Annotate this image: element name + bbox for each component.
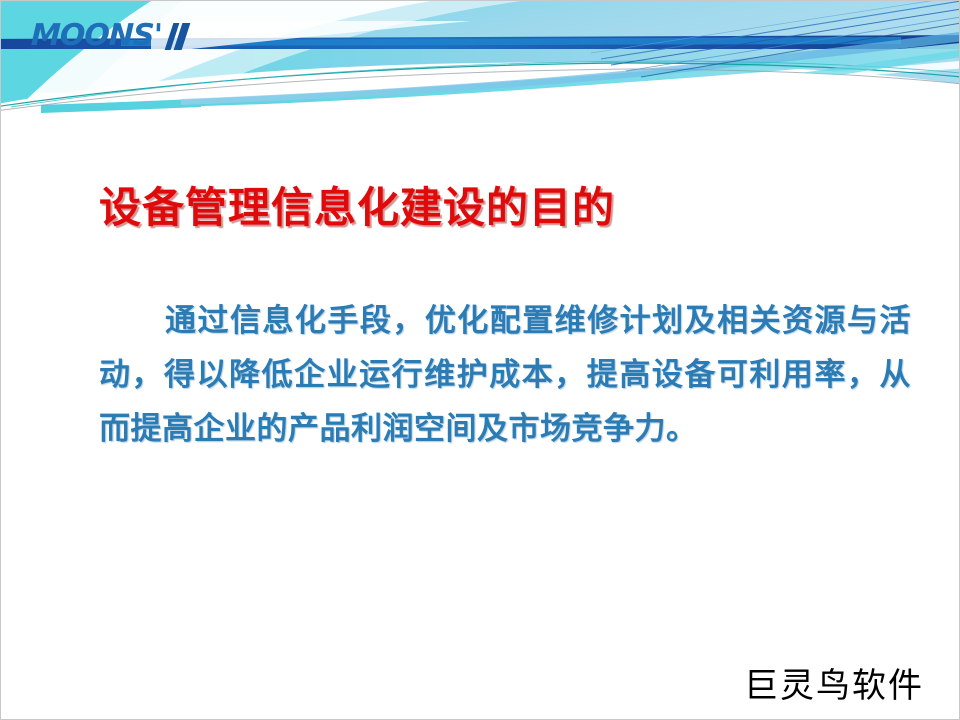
company-logo: MOONS' xyxy=(31,19,189,53)
slide-title: 设备管理信息化建设的目的 xyxy=(99,184,615,232)
slide-body-paragraph: 通过信息化手段，优化配置维修计划及相关资源与活动，得以降低企业运行维护成本，提高… xyxy=(99,294,911,456)
footer-watermark: 巨灵鸟软件 xyxy=(744,666,924,707)
logo-wordmark: MOONS' xyxy=(30,21,162,51)
double-slash-mark-icon xyxy=(169,21,189,51)
presentation-slide: MOONS' 设备管理信息化建设的目的 通过信息化手段，优化配置维修计划及相关资… xyxy=(0,0,960,720)
